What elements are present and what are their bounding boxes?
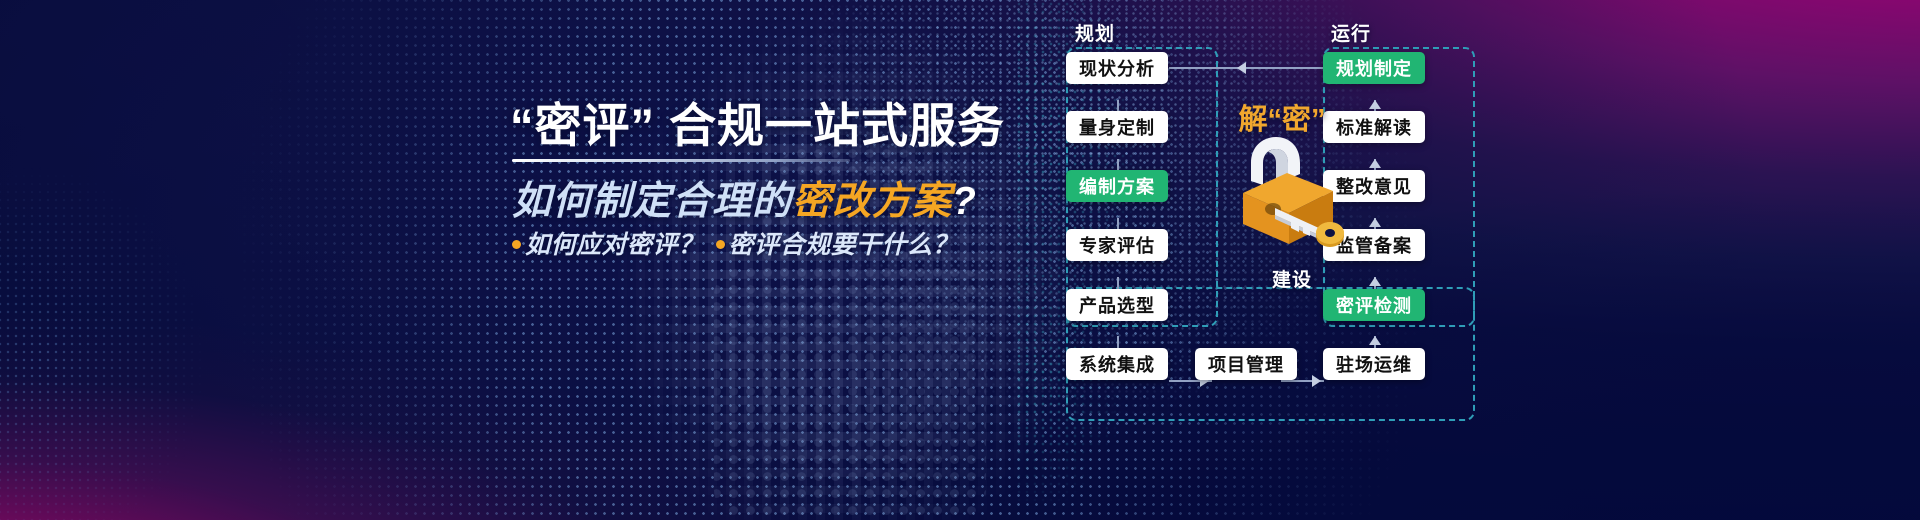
node-plan-formulation[interactable]: 规划制定 bbox=[1323, 52, 1425, 84]
bullet-list: 如何应对密评？密评合规要干什么？ bbox=[512, 228, 958, 262]
title-divider bbox=[512, 159, 850, 162]
node-system-integration[interactable]: 系统集成 bbox=[1066, 348, 1168, 380]
bullet-item-1: 如何应对密评？ bbox=[525, 231, 704, 259]
arrow-up-icon bbox=[1369, 336, 1381, 345]
arrow-up-icon bbox=[1369, 218, 1381, 227]
subtitle-lead: 如何制定合理的 bbox=[512, 180, 792, 223]
bullet-dot-icon bbox=[716, 240, 725, 249]
node-crypto-assessment[interactable]: 密评检测 bbox=[1323, 289, 1425, 321]
bullet-item-2: 密评合规要干什么？ bbox=[729, 231, 959, 259]
headline-block: “密评” 合规一站式服务 如何制定合理的密改方案? 如何应对密评？密评合规要干什… bbox=[0, 0, 1060, 520]
group-label-run: 运行 bbox=[1331, 19, 1371, 46]
subtitle: 如何制定合理的密改方案? bbox=[512, 176, 977, 228]
node-project-management[interactable]: 项目管理 bbox=[1195, 348, 1297, 380]
arrow-up-icon bbox=[1369, 159, 1381, 168]
node-onsite-operations[interactable]: 驻场运维 bbox=[1323, 348, 1425, 380]
arrow-up-icon bbox=[1369, 277, 1381, 286]
subtitle-accent: 密改方案 bbox=[792, 180, 952, 223]
padlock-key-icon bbox=[1225, 132, 1349, 247]
arrow-right-icon bbox=[1312, 375, 1321, 387]
node-current-state-analysis[interactable]: 现状分析 bbox=[1066, 52, 1168, 84]
group-label-build: 建设 bbox=[1272, 265, 1312, 292]
node-product-selection[interactable]: 产品选型 bbox=[1066, 289, 1168, 321]
subtitle-question-mark: ? bbox=[952, 180, 977, 223]
node-expert-evaluation[interactable]: 专家评估 bbox=[1066, 229, 1168, 261]
process-flow-diagram: 规划 运行 建设 现状分析 量身定制 编 bbox=[1055, 0, 1555, 520]
connector-run-to-plan bbox=[1169, 67, 1324, 69]
arrow-left-icon bbox=[1237, 62, 1246, 74]
node-plan-drafting[interactable]: 编制方案 bbox=[1066, 170, 1168, 202]
page-title: “密评” 合规一站式服务 bbox=[510, 97, 1030, 155]
promo-banner: “密评” 合规一站式服务 如何制定合理的密改方案? 如何应对密评？密评合规要干什… bbox=[0, 0, 1920, 520]
bullet-dot-icon bbox=[512, 240, 521, 249]
node-tailored-customization[interactable]: 量身定制 bbox=[1066, 111, 1168, 143]
arrow-up-icon bbox=[1369, 100, 1381, 109]
group-label-plan: 规划 bbox=[1075, 19, 1115, 46]
